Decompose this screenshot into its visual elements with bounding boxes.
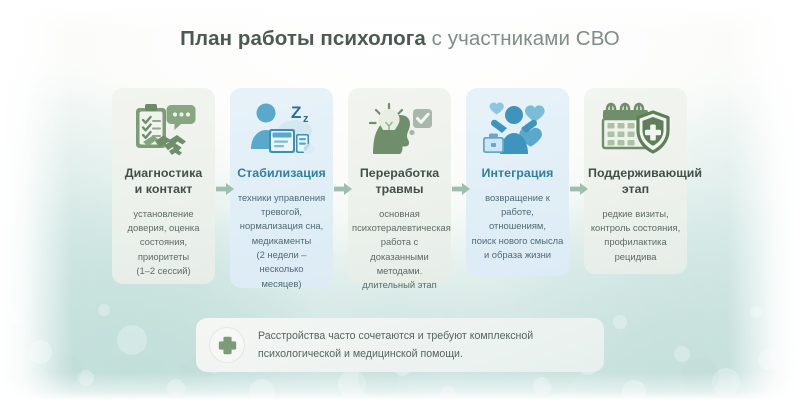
stage-card-pererabotka-travmy[interactable]: Переработкатравмы основнаяпсихотералевти… bbox=[348, 88, 451, 284]
stage-card-stabilizaciya[interactable]: Z z bbox=[230, 88, 333, 288]
summary-banner: Расстройства часто сочетаются и требуют … bbox=[196, 318, 604, 372]
clipboard-checklist-handshake-icon bbox=[116, 98, 211, 162]
stage-card-podderzhivayushchiy-etap[interactable]: Поддерживающийэтап редкие визиты,контрол… bbox=[584, 88, 687, 274]
person-hearts-briefcase-icon bbox=[470, 98, 565, 162]
summary-banner-text: Расстройства часто сочетаются и требуют … bbox=[258, 327, 533, 363]
stage-card-body: установлениедоверия, оценкасостояния, пр… bbox=[116, 207, 211, 278]
infographic-canvas: План работы психолога с участниками СВО bbox=[0, 0, 800, 400]
stage-card-heading: Поддерживающийэтап bbox=[588, 166, 683, 198]
stage-card-heading: Диагностикаи контакт bbox=[116, 166, 211, 198]
summary-banner-line-1: Расстройства часто сочетаются и требуют … bbox=[258, 327, 533, 345]
summary-banner-line-2: психологической и медицинской помощи. bbox=[258, 345, 533, 363]
head-lightbulb-checkmark-icon bbox=[352, 98, 447, 162]
person-sleep-medication-icon: Z z bbox=[234, 98, 329, 162]
page-title-light: с участниками СВО bbox=[426, 27, 620, 50]
stage-card-body: возвращение к работе,отношениям,поиск но… bbox=[470, 191, 565, 262]
stage-card-body: редкие визиты,контроль состояния,профила… bbox=[588, 207, 683, 264]
stage-card-body: основнаяпсихотералевтическаяработа с док… bbox=[352, 207, 447, 293]
flow-arrow-3 bbox=[452, 182, 470, 196]
flow-arrow-1 bbox=[216, 182, 234, 196]
page-title-strong: План работы психолога bbox=[180, 27, 426, 50]
stage-card-heading: Стабилизация bbox=[234, 166, 329, 182]
page-title: План работы психолога с участниками СВО bbox=[0, 27, 800, 51]
flow-arrow-4 bbox=[570, 182, 588, 196]
calendar-shield-cross-icon bbox=[588, 98, 683, 162]
stage-card-heading: Переработкатравмы bbox=[352, 166, 447, 198]
svg-text:z: z bbox=[303, 113, 309, 125]
stage-card-heading: Интеграция bbox=[470, 166, 565, 182]
svg-text:Z: Z bbox=[291, 103, 301, 122]
stage-card-row: Диагностикаи контакт установлениедоверия… bbox=[112, 88, 690, 288]
stage-card-integraciya[interactable]: Интеграция возвращение к работе,отношени… bbox=[466, 88, 569, 276]
flow-arrow-2 bbox=[334, 182, 352, 196]
medical-cross-icon bbox=[210, 328, 244, 362]
stage-card-body: техники управлениятревогой,нормализация … bbox=[234, 191, 329, 291]
stage-card-diagnostika[interactable]: Диагностикаи контакт установлениедоверия… bbox=[112, 88, 215, 284]
